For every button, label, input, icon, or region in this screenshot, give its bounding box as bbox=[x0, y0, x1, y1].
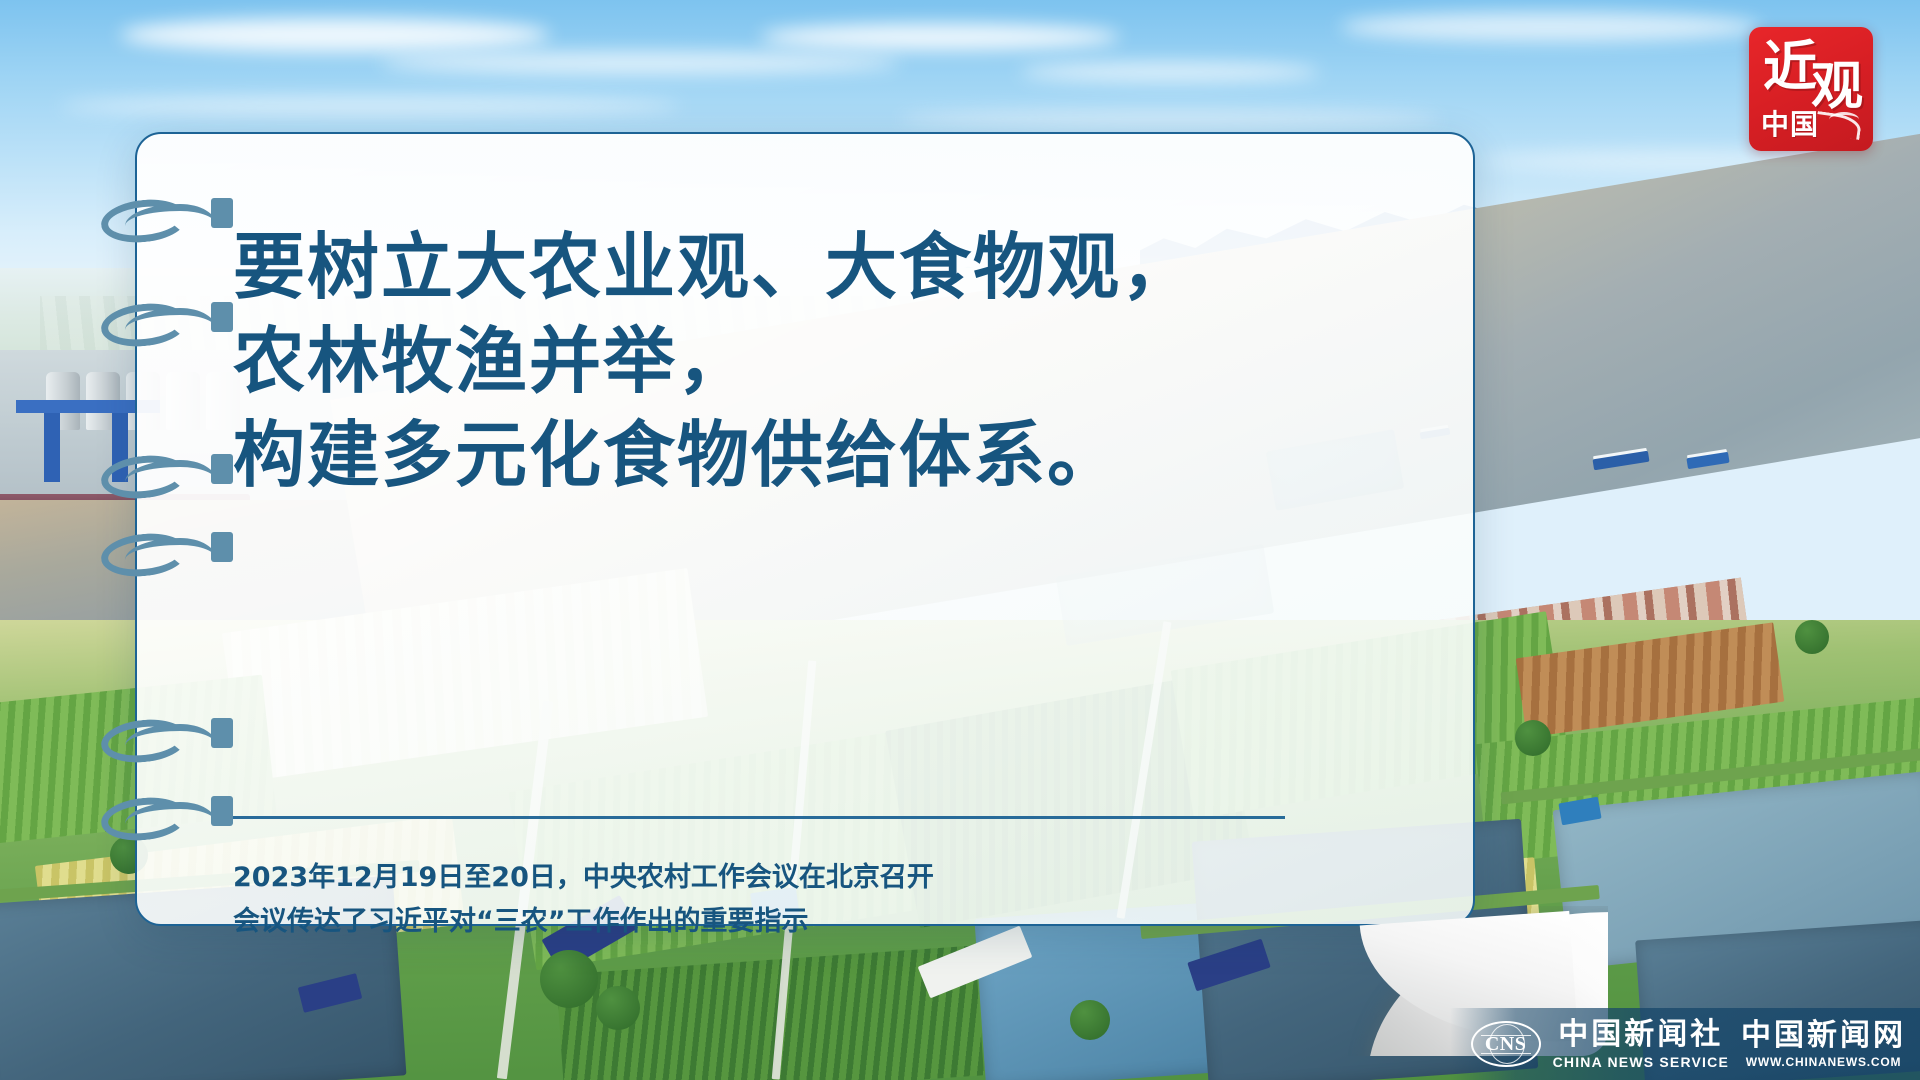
logo-label-zhongguo: 中国 bbox=[1761, 111, 1819, 139]
binder-ring-icon bbox=[101, 452, 229, 488]
site-url: WWW.CHINANEWS.COM bbox=[1746, 1056, 1902, 1068]
agency-brand: 中国新闻社 CHINA NEWS SERVICE bbox=[1553, 1020, 1729, 1069]
quote-card: 要树立大农业观、大食物观， 农林牧渔并举， 构建多元化食物供给体系。 2023年… bbox=[135, 132, 1475, 926]
tree bbox=[540, 950, 598, 1008]
logo-char-jin: 近 bbox=[1763, 40, 1817, 94]
cloud bbox=[120, 18, 550, 52]
cloud bbox=[1340, 12, 1760, 42]
port-crane bbox=[44, 400, 60, 482]
quote-line-2: 农林牧渔并举， bbox=[233, 314, 1473, 408]
cloud bbox=[380, 52, 900, 74]
agency-name-en: CHINA NEWS SERVICE bbox=[1553, 1055, 1729, 1069]
site-name-cn: 中国新闻网 bbox=[1741, 1021, 1906, 1051]
cloud bbox=[60, 96, 680, 116]
quote-card-content: 要树立大农业观、大食物观， 农林牧渔并举， 构建多元化食物供给体系。 bbox=[137, 134, 1473, 924]
binder-ring-icon bbox=[101, 196, 229, 232]
tree bbox=[1515, 720, 1551, 756]
poster-canvas: 要树立大农业观、大食物观， 农林牧渔并举， 构建多元化食物供给体系。 2023年… bbox=[0, 0, 1920, 1080]
caption-line-1: 2023年12月19日至20日，中央农村工作会议在北京召开 bbox=[233, 856, 934, 900]
logo-char-guan: 观 bbox=[1811, 61, 1863, 113]
binder-ring-icon bbox=[101, 716, 229, 752]
brand-bar: CNS 中国新闻社 CHINA NEWS SERVICE 中国新闻网 WWW.C… bbox=[1450, 1008, 1920, 1080]
caption-line-2: 会议传达了习近平对“三农”工作作出的重要指示 bbox=[233, 900, 934, 944]
agency-name-cn: 中国新闻社 bbox=[1558, 1020, 1723, 1050]
site-brand: 中国新闻网 WWW.CHINANEWS.COM bbox=[1741, 1021, 1906, 1068]
cns-mark-text: CNS bbox=[1483, 1033, 1529, 1056]
quote-divider bbox=[233, 816, 1285, 819]
binder-ring-icon bbox=[101, 794, 229, 830]
caption-block: 2023年12月19日至20日，中央农村工作会议在北京召开 会议传达了习近平对“… bbox=[233, 856, 934, 944]
cloud bbox=[900, 110, 1440, 128]
binder-ring-icon bbox=[101, 530, 229, 566]
tree bbox=[1795, 620, 1829, 654]
tree bbox=[1070, 1000, 1110, 1040]
binder-ring-icon bbox=[101, 300, 229, 336]
cloud bbox=[760, 24, 1120, 50]
cloud bbox=[1020, 62, 1320, 82]
logo-swirl-icon bbox=[1829, 112, 1859, 127]
tree bbox=[596, 986, 640, 1030]
quote-line-1: 要树立大农业观、大食物观， bbox=[233, 220, 1473, 314]
quote-line-3: 构建多元化食物供给体系。 bbox=[233, 408, 1473, 502]
program-logo[interactable]: 近 观 中国 bbox=[1749, 27, 1873, 151]
cns-globe-icon: CNS bbox=[1471, 1021, 1541, 1067]
